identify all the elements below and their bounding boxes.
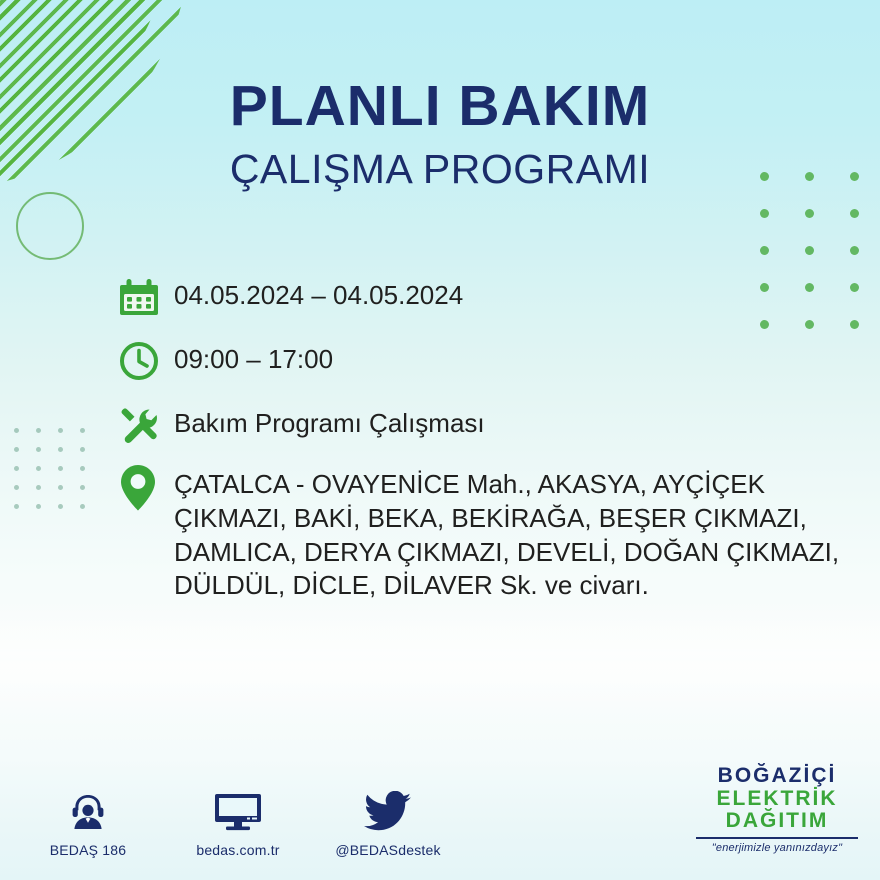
detail-row-time: 09:00 – 17:00: [118, 338, 878, 384]
headset-support-icon: [66, 789, 110, 835]
monitor-icon: [214, 789, 262, 835]
twitter-bird-icon: [364, 789, 412, 835]
detail-row-work-type: Bakım Programı Çalışması: [118, 402, 878, 448]
maintenance-address: ÇATALCA - OVAYENİCE Mah., AKASYA, AYÇİÇE…: [174, 466, 839, 603]
contact-website[interactable]: bedas.com.tr: [186, 789, 290, 858]
logo-tagline: "enerjimizle yanınızdayız": [692, 842, 862, 854]
page-title: PLANLI BAKIM: [0, 78, 880, 135]
poster-header: PLANLI BAKIM ÇALIŞMA PROGRAMI: [0, 78, 880, 190]
contact-phone[interactable]: BEDAŞ 186: [36, 789, 140, 858]
logo-line-elektrik: ELEKTRİK: [692, 788, 862, 811]
logo-line-bogazici: BOĞAZİÇİ: [692, 765, 862, 788]
planned-maintenance-poster: PLANLI BAKIM ÇALIŞMA PROGRAMI: [0, 0, 880, 880]
address-line: ÇATALCA - OVAYENİCE Mah., AKASYA, AYÇİÇE…: [174, 469, 765, 499]
location-pin-icon: [118, 466, 174, 510]
tools-icon: [118, 402, 174, 448]
maintenance-work-type: Bakım Programı Çalışması: [174, 402, 485, 441]
contact-phone-label: BEDAŞ 186: [50, 842, 127, 858]
bedas-logo: BOĞAZİÇİ ELEKTRİK DAĞITIM "enerjimizle y…: [692, 765, 862, 854]
contact-website-label: bedas.com.tr: [196, 842, 279, 858]
address-line: ÇIKMAZI, BAKİ, BEKA, BEKİRAĞA, BEŞER ÇIK…: [174, 503, 807, 533]
circle-outline-decoration: [16, 192, 84, 260]
poster-footer: BEDAŞ 186 bedas.com.t: [0, 756, 880, 866]
contact-channels: BEDAŞ 186 bedas.com.t: [36, 789, 440, 858]
detail-row-date: 04.05.2024 – 04.05.2024: [118, 274, 878, 320]
logo-divider: [696, 837, 858, 839]
page-subtitle: ÇALIŞMA PROGRAMI: [0, 149, 880, 190]
calendar-icon: [118, 274, 174, 320]
clock-icon: [118, 338, 174, 384]
contact-twitter[interactable]: @BEDASdestek: [336, 789, 440, 858]
dot-grid-left-decoration: [14, 428, 102, 523]
contact-twitter-label: @BEDASdestek: [335, 842, 440, 858]
maintenance-time-range: 09:00 – 17:00: [174, 338, 333, 377]
maintenance-date-range: 04.05.2024 – 04.05.2024: [174, 274, 463, 313]
maintenance-details: 04.05.2024 – 04.05.2024 09:00 – 17:00: [118, 274, 878, 621]
logo-line-dagitim: DAĞITIM: [692, 810, 862, 833]
address-line: DÜLDÜL, DİCLE, DİLAVER Sk. ve civarı.: [174, 570, 649, 600]
detail-row-address: ÇATALCA - OVAYENİCE Mah., AKASYA, AYÇİÇE…: [118, 466, 878, 603]
address-line: DAMLICA, DERYA ÇIKMAZI, DEVELİ, DOĞAN ÇI…: [174, 537, 839, 567]
